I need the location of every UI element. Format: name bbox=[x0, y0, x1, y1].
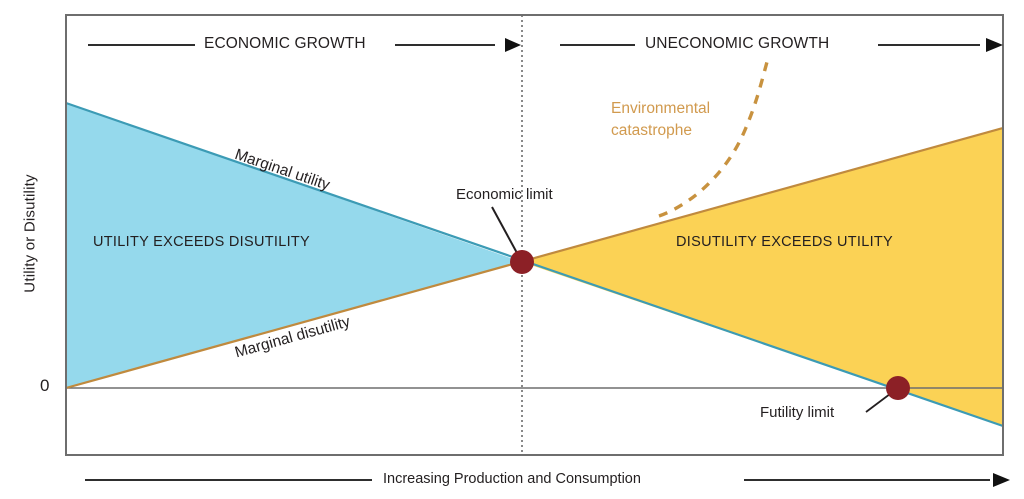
futility-limit-point bbox=[886, 376, 910, 400]
y-axis-zero-tick: 0 bbox=[40, 376, 49, 396]
environmental-catastrophe-line-2: catastrophe bbox=[611, 120, 710, 142]
economic-limit-point bbox=[510, 250, 534, 274]
x-axis-label: Increasing Production and Consumption bbox=[383, 471, 641, 487]
environmental-catastrophe-line-1: Environmental bbox=[611, 98, 710, 120]
futility-limit-callout-label: Futility limit bbox=[760, 404, 834, 421]
utility-disutility-chart: Utility or Disutility 0 ECONOMIC GROWTH … bbox=[0, 0, 1024, 499]
x-axis-arrowhead bbox=[993, 473, 1010, 487]
disutility-exceeds-utility-label: DISUTILITY EXCEEDS UTILITY bbox=[676, 234, 893, 250]
y-axis-label: Utility or Disutility bbox=[22, 134, 39, 334]
uneconomic-growth-band-label: UNECONOMIC GROWTH bbox=[645, 35, 829, 53]
economic-limit-callout-label: Economic limit bbox=[456, 186, 553, 203]
utility-exceeds-disutility-label: UTILITY EXCEEDS DISUTILITY bbox=[93, 234, 310, 250]
environmental-catastrophe-label: Environmental catastrophe bbox=[611, 98, 710, 143]
economic-growth-band-label: ECONOMIC GROWTH bbox=[204, 35, 366, 53]
